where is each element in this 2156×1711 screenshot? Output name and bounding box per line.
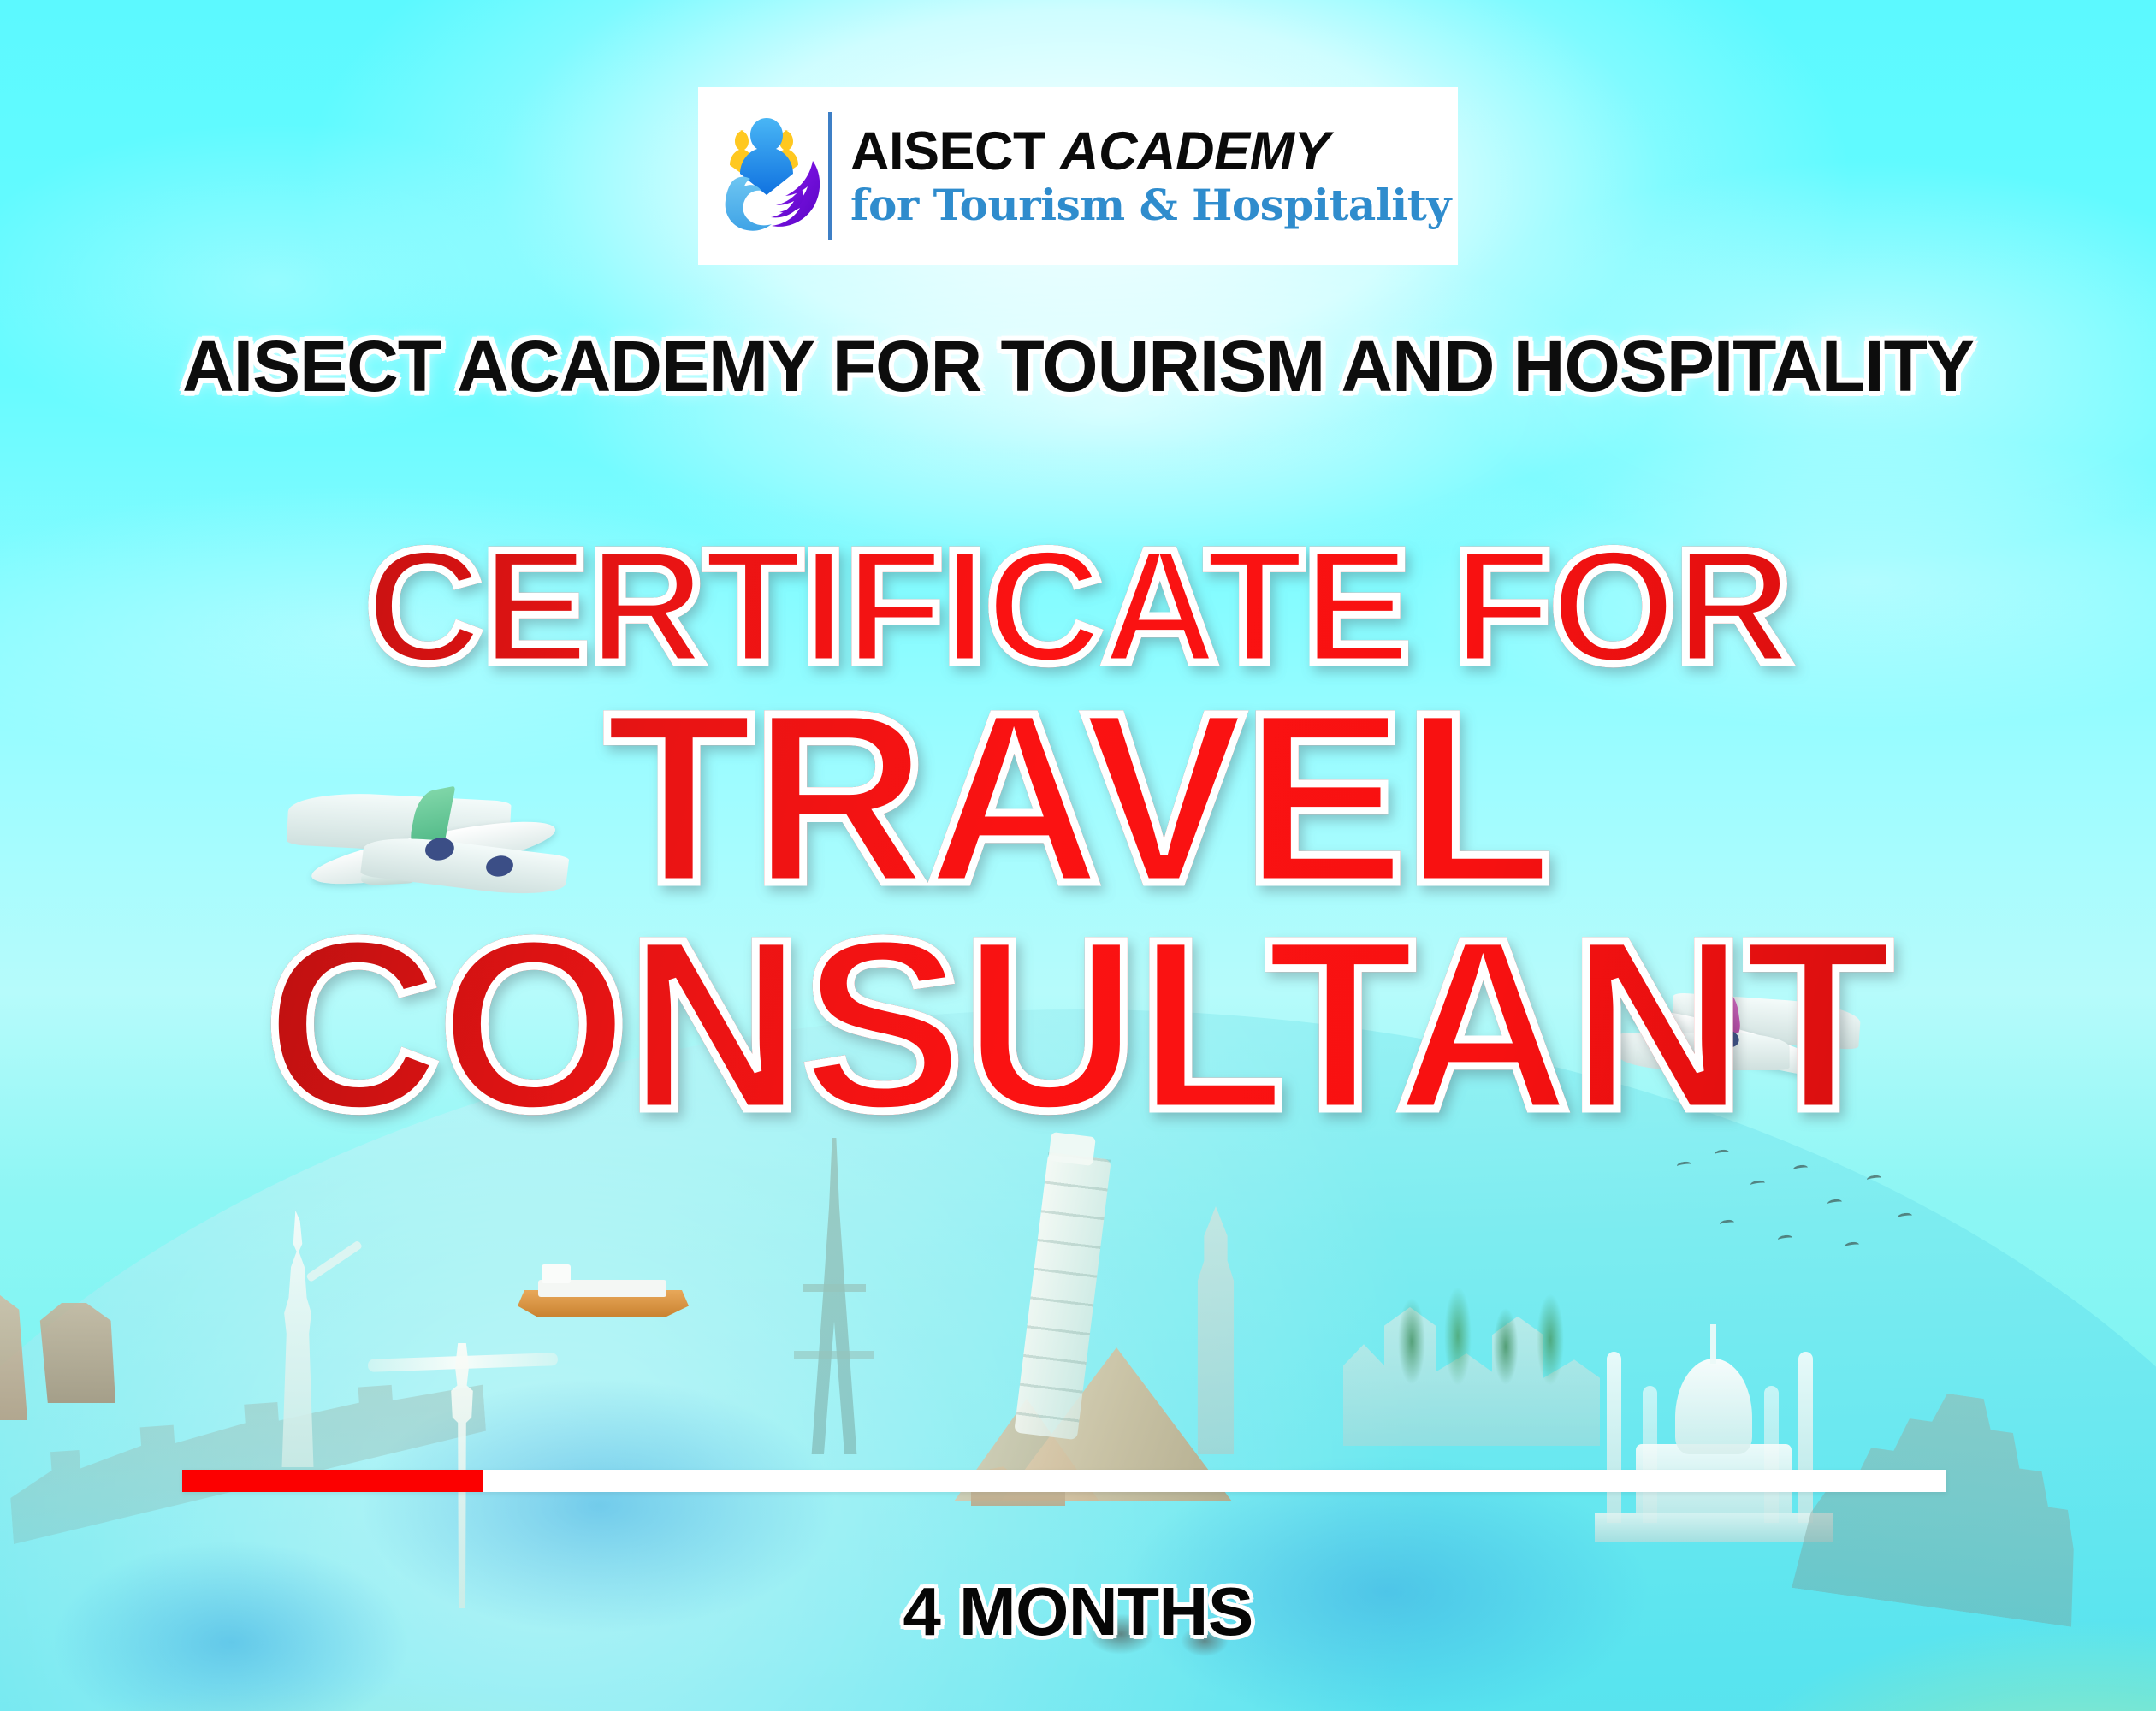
organisation-name: AISECT ACADEMY FOR TOURISM AND HOSPITALI… — [0, 325, 2156, 408]
boat-deck — [538, 1280, 666, 1297]
divider-bar-red-segment — [182, 1470, 483, 1492]
statue-of-liberty-icon — [269, 1211, 326, 1467]
taj-minaret — [1798, 1352, 1813, 1523]
gondola-boat-icon — [518, 1271, 689, 1317]
course-duration: 4 MONTHS — [0, 1572, 2156, 1651]
eiffel-tower-icon — [783, 1138, 885, 1454]
logo-aisect-word: AISECT — [850, 121, 1060, 181]
taj-spire — [1710, 1324, 1716, 1364]
logo-vertical-divider — [828, 112, 832, 240]
cypress-trees-icon — [1386, 1275, 1574, 1403]
christ-the-redeemer-arms-icon — [368, 1353, 558, 1372]
divider-bar-white-segment — [483, 1470, 1946, 1492]
taj-mahal-icon — [1583, 1300, 1839, 1557]
monument-valley-mesa-icon — [0, 1275, 27, 1420]
divider-bar — [182, 1470, 1946, 1492]
boat-hull — [518, 1290, 689, 1317]
taj-minaret — [1607, 1352, 1621, 1523]
logo-wordmark: AISECT ACADEMY for Tourism & Hospitality — [850, 125, 1451, 228]
statue-of-liberty-torch-arm-icon — [305, 1240, 363, 1282]
flying-birds-icon — [1668, 1146, 1951, 1317]
brand-logo-lockup: AISECT ACADEMY for Tourism & Hospitality — [698, 87, 1458, 265]
monument-valley-mesa-icon — [38, 1292, 115, 1403]
venice-skyline-icon — [1343, 1292, 1600, 1446]
eiffel-tower-band-icon — [803, 1284, 866, 1292]
eiffel-tower-band-icon — [794, 1351, 874, 1359]
big-ben-icon — [1189, 1206, 1242, 1454]
taj-plinth — [1595, 1513, 1833, 1542]
taj-minaret — [1643, 1386, 1657, 1523]
aisect-people-swoosh-logo-icon — [717, 99, 820, 253]
logo-title-line: AISECT ACADEMY — [850, 125, 1451, 179]
leaning-tower-of-pisa-icon — [1014, 1152, 1111, 1441]
logo-academy-word: ACADEMY — [1060, 121, 1330, 181]
boat-cabin — [542, 1264, 571, 1283]
pisa-tower-arcades — [1014, 1152, 1111, 1441]
certificate-title-line-3: CONSULTANT — [0, 885, 2156, 1165]
great-wall-of-china-icon — [3, 1370, 492, 1557]
certificate-course-poster: AISECT ACADEMY for Tourism & Hospitality… — [0, 0, 2156, 1711]
taj-minaret — [1764, 1386, 1779, 1523]
logo-subtitle-line: for Tourism & Hospitality — [850, 182, 1451, 228]
taj-dome — [1675, 1359, 1752, 1454]
